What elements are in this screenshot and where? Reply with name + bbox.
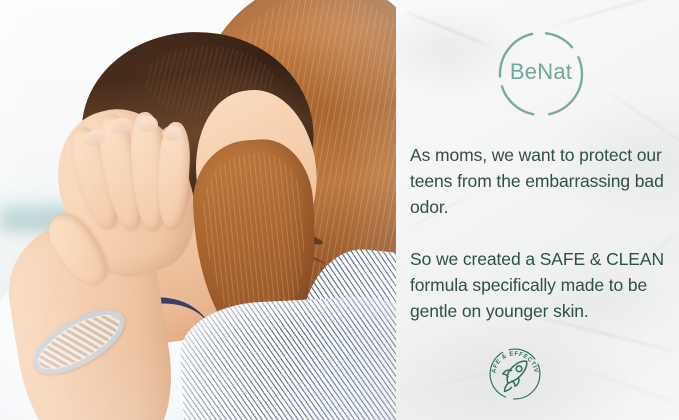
copy-paragraph-2: So we created a SAFE & CLEAN formula spe… bbox=[410, 246, 672, 324]
rocket-glyph bbox=[503, 361, 527, 391]
marketing-copy: As moms, we want to protect our teens fr… bbox=[410, 142, 672, 324]
copy-paragraph-1: As moms, we want to protect our teens fr… bbox=[410, 142, 672, 220]
brand-logo-text: BeNat bbox=[495, 59, 587, 85]
content-panel: BeNat As moms, we want to protect our te… bbox=[396, 0, 679, 420]
brand-logo: BeNat bbox=[495, 28, 587, 120]
product-banner: FOR THE WIN X2 bbox=[0, 0, 679, 420]
safe-effective-badge: SAFE & EFFECTIVE bbox=[486, 345, 544, 403]
lifestyle-photo: FOR THE WIN X2 bbox=[0, 0, 396, 420]
rocket-badge-icon: SAFE & EFFECTIVE bbox=[486, 345, 544, 403]
